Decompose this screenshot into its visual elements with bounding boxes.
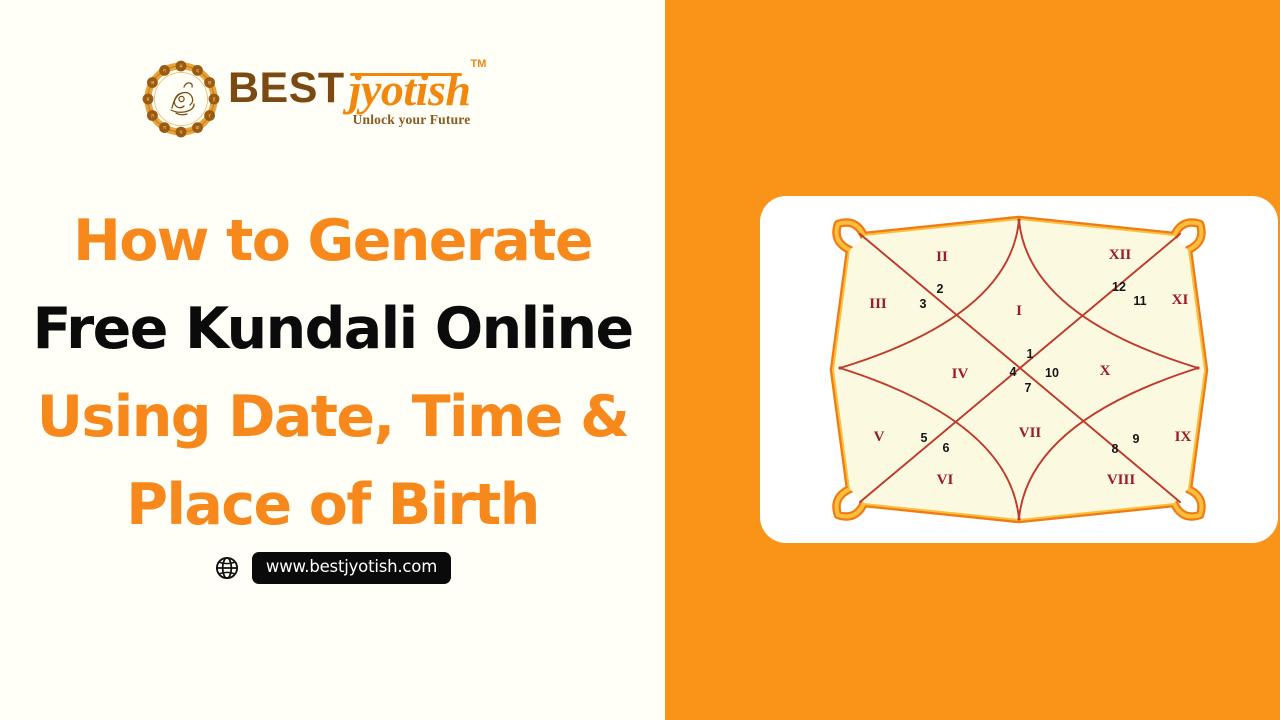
svg-text:न: न bbox=[163, 126, 166, 132]
headline-line-3: Using Date, Time & bbox=[28, 373, 637, 461]
house-label-VI: VI bbox=[937, 472, 954, 488]
house-number-11: 11 bbox=[1133, 294, 1146, 308]
brand-name-jyotish-wrap: jyotish TM bbox=[349, 68, 471, 111]
house-label-V: V bbox=[874, 429, 885, 445]
headline-line-2: Free Kundali Online bbox=[28, 285, 637, 373]
house-number-5: 5 bbox=[921, 431, 928, 445]
house-label-VII: VII bbox=[1019, 425, 1042, 441]
ganesha-mandala-logo-mark: म द स ह र क प न त ब ज ग bbox=[140, 58, 222, 140]
svg-text:ग: ग bbox=[163, 68, 166, 74]
house-label-IX: IX bbox=[1175, 429, 1192, 445]
website-url-badge[interactable]: www.bestjyotish.com bbox=[252, 552, 451, 584]
house-label-III: III bbox=[869, 296, 887, 312]
house-label-VIII: VIII bbox=[1107, 472, 1136, 488]
brand-name-best: BEST bbox=[228, 68, 345, 109]
house-number-3: 3 bbox=[920, 297, 927, 311]
brand-wordmark: BEST jyotish TM Unlock your Future bbox=[228, 58, 470, 128]
right-visual-panel: I II III IV V VI VII VIII IX X XI XII 1 … bbox=[665, 0, 1280, 720]
house-label-I: I bbox=[1016, 303, 1022, 319]
kundali-chart-card: I II III IV V VI VII VIII IX X XI XII 1 … bbox=[760, 196, 1278, 543]
house-number-2: 2 bbox=[937, 282, 944, 296]
headline-line-1: How to Generate bbox=[28, 197, 637, 285]
headline-line-4: Place of Birth bbox=[28, 461, 637, 549]
house-number-12: 12 bbox=[1112, 280, 1126, 294]
left-content-panel: म द स ह र क प न त ब ज ग bbox=[0, 0, 665, 720]
house-label-IV: IV bbox=[952, 366, 969, 382]
house-number-4: 4 bbox=[1010, 365, 1017, 379]
trademark-symbol: TM bbox=[471, 59, 487, 70]
svg-text:ह: ह bbox=[213, 97, 216, 103]
house-label-XI: XI bbox=[1172, 292, 1189, 308]
svg-text:स: स bbox=[208, 81, 212, 87]
house-number-6: 6 bbox=[943, 441, 950, 455]
house-number-8: 8 bbox=[1112, 442, 1119, 456]
devanagari-topbar-decoration bbox=[350, 73, 463, 76]
svg-text:ज: ज bbox=[150, 81, 154, 87]
house-label-XII: XII bbox=[1109, 247, 1132, 263]
globe-icon bbox=[214, 555, 240, 581]
house-number-1: 1 bbox=[1027, 347, 1034, 361]
house-label-II: II bbox=[936, 249, 948, 265]
banner-root: म द स ह र क प न त ब ज ग bbox=[0, 0, 1280, 720]
house-number-7: 7 bbox=[1025, 381, 1032, 395]
house-number-10: 10 bbox=[1045, 366, 1059, 380]
kundali-chart: I II III IV V VI VII VIII IX X XI XII 1 … bbox=[760, 196, 1278, 543]
brand-logo[interactable]: म द स ह र क प न त ब ज ग bbox=[140, 58, 470, 140]
house-number-9: 9 bbox=[1133, 432, 1140, 446]
page-title: How to Generate Free Kundali Online Usin… bbox=[0, 197, 665, 549]
house-label-X: X bbox=[1100, 363, 1111, 379]
website-url-row[interactable]: www.bestjyotish.com bbox=[0, 552, 665, 584]
svg-text:द: द bbox=[196, 68, 199, 74]
